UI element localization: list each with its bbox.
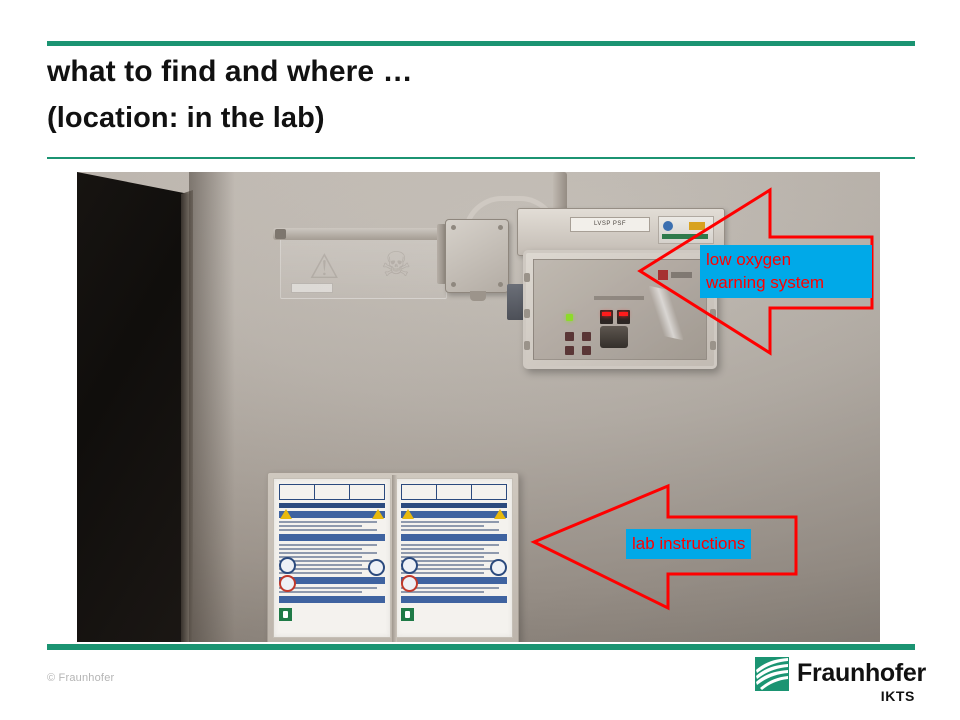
ppe-symbol-icon	[490, 559, 507, 576]
prohibition-symbol-icon	[279, 575, 296, 592]
holder-spine	[392, 475, 397, 642]
title-line-1: what to find and where …	[47, 52, 747, 92]
prohibition-symbol-icon	[401, 575, 418, 592]
doorway-opening	[77, 172, 189, 642]
oxygen-warning-control-panel	[523, 250, 717, 369]
sticker-dot-icon	[663, 221, 673, 231]
ppe-symbol-icon	[368, 559, 385, 576]
sticker-bar	[662, 234, 708, 239]
fraunhofer-logo-mark-icon	[755, 657, 789, 691]
fraunhofer-logo: Fraunhofer IKTS	[755, 655, 915, 705]
slide-root: what to find and where … (location: in t…	[0, 0, 960, 720]
warning-triangle-icon	[402, 509, 414, 519]
hazard-sign-holder: ⚠ ☠	[280, 235, 447, 299]
door-shadow	[189, 172, 235, 642]
sign-holder-rail	[273, 228, 455, 240]
fraunhofer-wordmark: Fraunhofer	[797, 659, 926, 688]
housing-label: LVSP PSF	[570, 217, 650, 232]
junction-box-screw	[498, 225, 503, 230]
skull-crossbones-icon: ☠	[381, 248, 411, 282]
callout-lab-instructions: lab instructions	[626, 529, 751, 559]
warning-triangle-icon	[494, 509, 506, 519]
sensor-housing: LVSP PSF	[517, 208, 725, 256]
sticker-mark	[689, 222, 705, 230]
footer-rule	[47, 644, 915, 650]
first-aid-icon	[401, 608, 414, 621]
title-line-2: (location: in the lab)	[47, 98, 747, 138]
header-rule-top	[47, 41, 915, 46]
callout-low-oxygen: low oxygen warning system	[700, 245, 872, 298]
ppe-symbol-icon	[279, 557, 296, 574]
lab-instruction-sheet-right	[395, 478, 513, 638]
junction-box-screw	[451, 282, 456, 287]
page-title: what to find and where … (location: in t…	[47, 52, 747, 138]
lab-instruction-holder	[267, 472, 519, 642]
junction-box-screw	[451, 225, 456, 230]
junction-box-screw	[498, 282, 503, 287]
lab-instruction-sheet-left	[273, 478, 391, 638]
junction-box	[445, 219, 509, 293]
hazard-symbol-ghost-icon: ⚠	[309, 250, 339, 284]
sign-holder-tag	[291, 283, 333, 293]
housing-sticker	[658, 216, 714, 244]
ppe-symbol-icon	[401, 557, 418, 574]
header-rule-middle	[47, 157, 915, 159]
cable-gland	[470, 291, 486, 301]
copyright-text: © Fraunhofer	[47, 672, 114, 684]
lab-wall-photo: ⚠ ☠ LVSP PSF	[77, 172, 880, 642]
panel-screw-group	[526, 253, 714, 366]
institute-abbreviation: IKTS	[881, 688, 915, 704]
warning-triangle-icon	[280, 509, 292, 519]
first-aid-icon	[279, 608, 292, 621]
warning-triangle-icon	[372, 509, 384, 519]
